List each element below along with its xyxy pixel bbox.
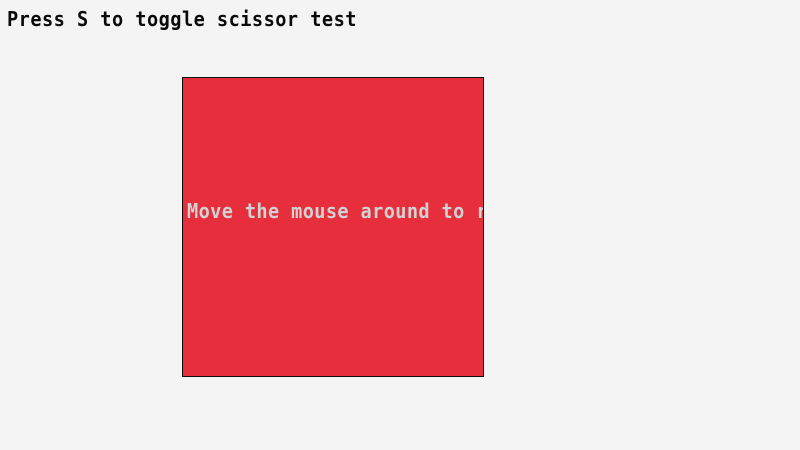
app-canvas: Press S to toggle scissor test Move the … xyxy=(0,0,800,450)
scissor-clip-area: Move the mouse around to resize this rec… xyxy=(183,78,483,376)
scissor-rectangle-label: Move the mouse around to resize this rec… xyxy=(187,199,483,223)
scissor-toggle-hint: Press S to toggle scissor test xyxy=(7,6,732,32)
scissor-rectangle[interactable]: Move the mouse around to resize this rec… xyxy=(182,77,484,377)
